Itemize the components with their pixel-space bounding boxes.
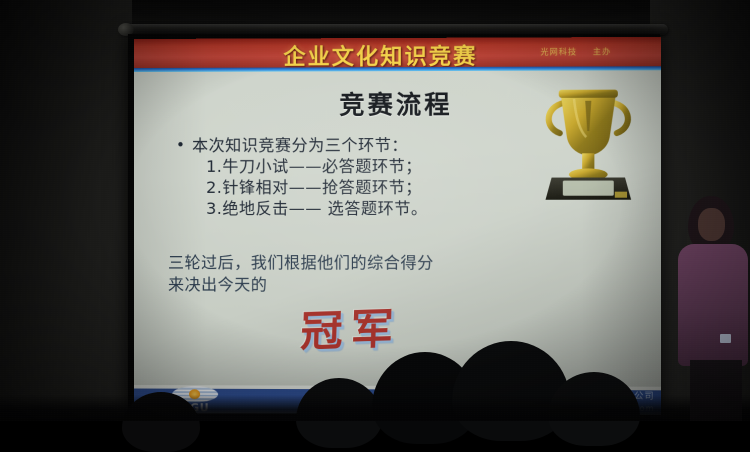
organizer-role: 主办 [593,47,611,56]
banner-organizer: 光网科技 主办 [540,46,611,57]
standing-attendee [676,196,750,421]
audience-shoulders [0,395,750,421]
banner-title: 企业文化知识竞赛 [283,39,477,72]
closing-line-2: 来决出今天的 [168,274,552,297]
projection-screen: 企业文化知识竞赛 光网科技 主办 竞赛流程 • 本次知识竞赛分为三个环节： [128,30,660,415]
closing-paragraph: 三轮过后，我们根据他们的综合得分 来决出今天的 [168,252,552,297]
room-scene: 企业文化知识竞赛 光网科技 主办 竞赛流程 • 本次知识竞赛分为三个环节： [0,0,750,421]
slide-body: 竞赛流程 • 本次知识竞赛分为三个环节： 1.牛刀小试——必答题环节； 2.针锋… [134,70,661,387]
organizer-name: 光网科技 [540,47,577,56]
screen-frame: 企业文化知识竞赛 光网科技 主办 竞赛流程 • 本次知识竞赛分为三个环节： [128,34,660,415]
attendee-badge [720,334,731,343]
champion-wordart: 冠军 [300,295,403,360]
attendee-trousers [690,360,742,421]
attendee-shirt [678,244,748,366]
bullet-dot-icon: • [176,135,192,156]
wall-left [0,0,132,421]
bullet-item-text: 本次知识竞赛分为三个环节： [192,134,408,155]
closing-line-1: 三轮过后，我们根据他们的综合得分 [168,253,434,272]
presentation-slide: 企业文化知识竞赛 光网科技 主办 竞赛流程 • 本次知识竞赛分为三个环节： [134,37,661,415]
attendee-face [698,208,725,241]
trophy-icon [529,78,647,205]
slide-header-banner: 企业文化知识竞赛 光网科技 主办 [134,37,661,72]
